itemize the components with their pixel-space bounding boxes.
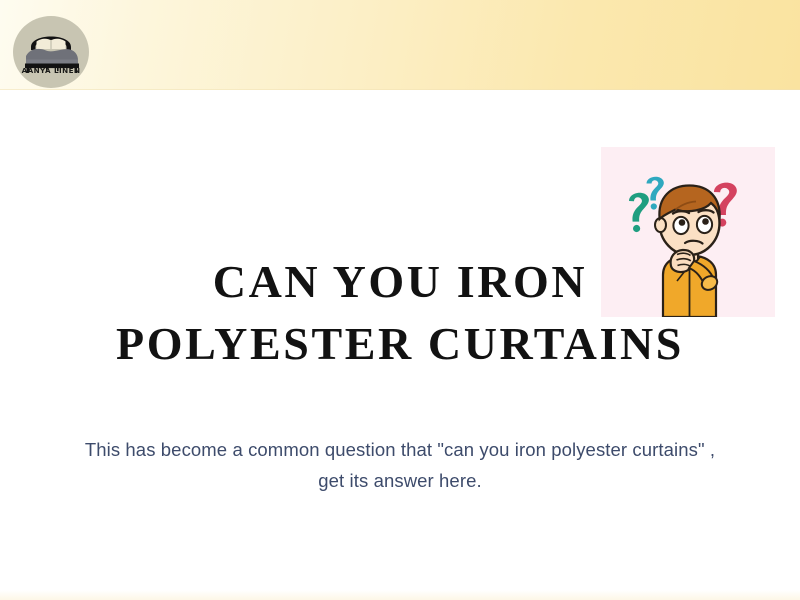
logo-mark: AANYA LINEN <box>13 16 89 88</box>
page-root: AANYA LINEN <box>0 0 800 600</box>
bed-icon <box>13 16 89 88</box>
page-title: CAN YOU IRON POLYESTER CURTAINS <box>0 251 800 375</box>
bottom-gradient-wash <box>0 590 800 600</box>
header-band: AANYA LINEN <box>0 0 800 90</box>
logo-wordmark: AANYA LINEN <box>13 66 89 75</box>
page-title-line1: CAN YOU IRON <box>0 251 800 313</box>
page-subtitle: This has become a common question that "… <box>80 434 720 496</box>
aanya-linen-logo[interactable]: AANYA LINEN <box>13 16 89 88</box>
page-title-line2: POLYESTER CURTAINS <box>0 313 800 375</box>
